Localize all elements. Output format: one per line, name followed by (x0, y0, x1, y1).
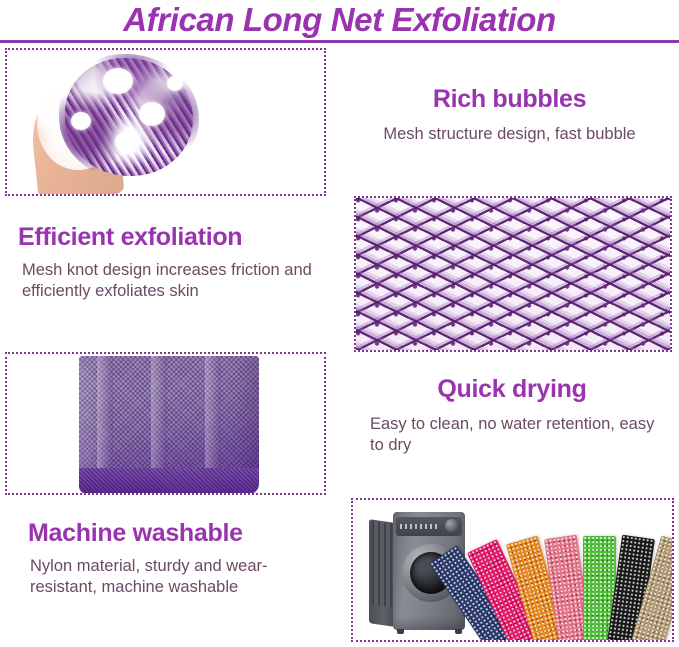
feature-body-rich-bubbles: Mesh structure design, fast bubble (340, 124, 679, 145)
feature-body-quick-drying: Easy to clean, no water retention, easy … (370, 414, 662, 456)
foam-blob (103, 68, 133, 94)
feature-heading-machine-washable: Machine washable (28, 518, 328, 548)
image-panel-cloth (5, 352, 326, 495)
feature-heading-efficient-exfoliation: Efficient exfoliation (18, 222, 328, 252)
image-panel-mesh (354, 196, 672, 352)
image-panel-sponge (5, 48, 326, 196)
washer-display-leds (400, 524, 440, 529)
cloth-fold (97, 356, 113, 478)
cloth-fold (151, 356, 167, 478)
page-title: African Long Net Exfoliation (0, 1, 679, 39)
feature-heading-quick-drying: Quick drying (352, 374, 672, 404)
washer-foot (397, 629, 404, 634)
cloth-fold (205, 356, 221, 478)
title-bar: African Long Net Exfoliation (0, 0, 679, 44)
foam-blob (139, 102, 165, 126)
feature-quick-drying: Quick drying Easy to clean, no water ret… (352, 374, 672, 456)
foam-blob (167, 76, 183, 91)
feature-body-machine-washable: Nylon material, sturdy and wear-resistan… (30, 556, 318, 598)
feature-heading-rich-bubbles: Rich bubbles (340, 84, 679, 114)
foam-blob (115, 132, 137, 152)
washer-foot (455, 629, 462, 634)
cloth-hem (79, 468, 259, 494)
image-panel-washer (351, 498, 674, 642)
folded-net-cloth (79, 356, 259, 494)
washer-side-ribs (372, 521, 392, 608)
title-divider (0, 40, 679, 43)
color-swatch-fan (485, 506, 671, 640)
feature-rich-bubbles: Rich bubbles Mesh structure design, fast… (340, 84, 679, 145)
feature-efficient-exfoliation: Efficient exfoliation Mesh knot design i… (18, 222, 328, 302)
foam-blob (71, 112, 91, 130)
sponge-illustration (7, 50, 324, 194)
mesh-knots-row-b (356, 198, 670, 350)
feature-body-efficient-exfoliation: Mesh knot design increases friction and … (22, 260, 312, 302)
washer-dial-knob (445, 519, 458, 532)
feature-machine-washable: Machine washable Nylon material, sturdy … (28, 518, 328, 598)
